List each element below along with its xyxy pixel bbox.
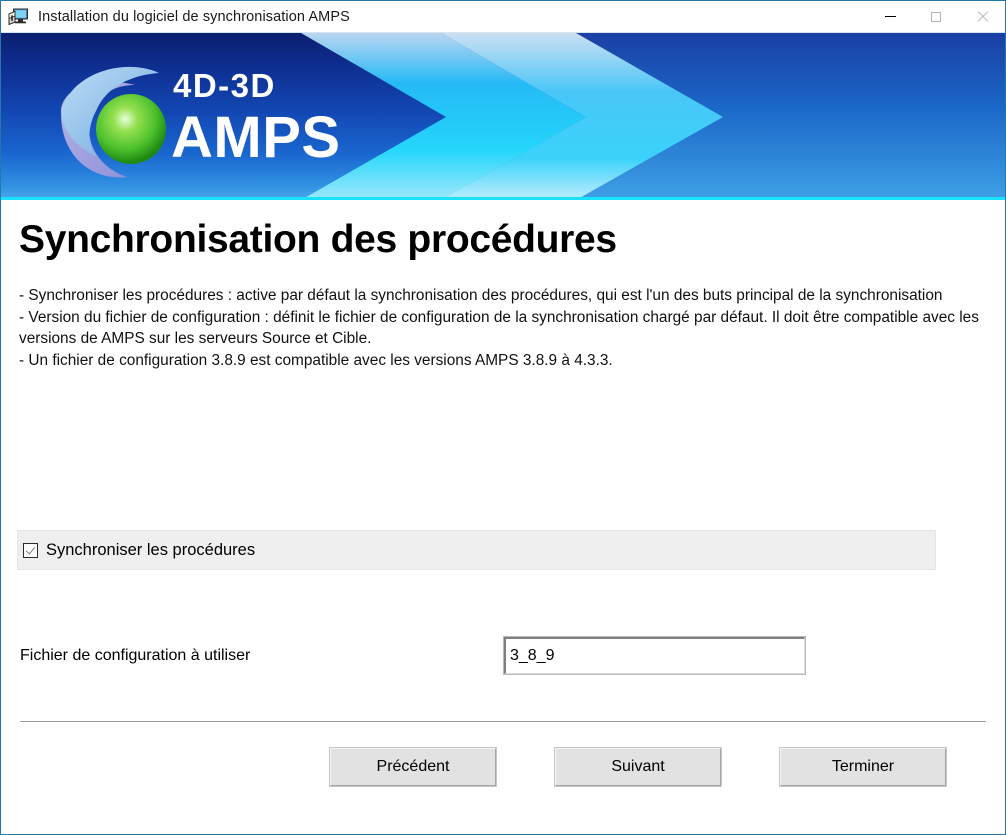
amps-logo: 4D-3D AMPS	[53, 53, 373, 183]
close-icon	[976, 10, 989, 23]
page-title: Synchronisation des procédures	[19, 218, 617, 262]
minimize-icon	[885, 16, 896, 18]
description-text: - Synchroniser les procédures : active p…	[19, 285, 985, 371]
finish-button[interactable]: Terminer	[780, 748, 946, 786]
installer-window: Installation du logiciel de synchronisat…	[0, 0, 1006, 835]
close-button[interactable]	[959, 1, 1005, 32]
msi-installer-icon	[8, 7, 30, 27]
sync-procedures-checkbox-row[interactable]: Synchroniser les procédures	[17, 530, 936, 570]
svg-text:4D-3D: 4D-3D	[173, 67, 276, 104]
maximize-button[interactable]	[913, 1, 959, 32]
description-paragraph-3: - Un fichier de configuration 3.8.9 est …	[19, 350, 985, 372]
config-file-label: Fichier de configuration à utiliser	[20, 647, 250, 665]
page-content: Synchronisation des procédures - Synchro…	[1, 200, 1005, 834]
sync-procedures-label: Synchroniser les procédures	[46, 541, 255, 560]
svg-text:AMPS: AMPS	[171, 105, 341, 170]
button-row: Précédent Suivant Terminer	[1, 748, 1005, 788]
next-button[interactable]: Suivant	[555, 748, 721, 786]
minimize-button[interactable]	[867, 1, 913, 32]
footer-separator	[20, 721, 986, 722]
checkbox-checked-icon[interactable]	[23, 543, 38, 558]
config-file-input[interactable]	[504, 637, 805, 674]
brand-banner: 4D-3D AMPS	[1, 33, 1005, 200]
previous-button[interactable]: Précédent	[330, 748, 496, 786]
amps-logo-graphic: 4D-3D AMPS	[53, 53, 373, 183]
maximize-icon	[931, 12, 941, 22]
description-paragraph-2: - Version du fichier de configuration : …	[19, 307, 985, 350]
window-title: Installation du logiciel de synchronisat…	[38, 9, 350, 25]
description-paragraph-1: - Synchroniser les procédures : active p…	[19, 285, 985, 307]
title-bar: Installation du logiciel de synchronisat…	[1, 1, 1005, 33]
window-controls	[867, 1, 1005, 32]
